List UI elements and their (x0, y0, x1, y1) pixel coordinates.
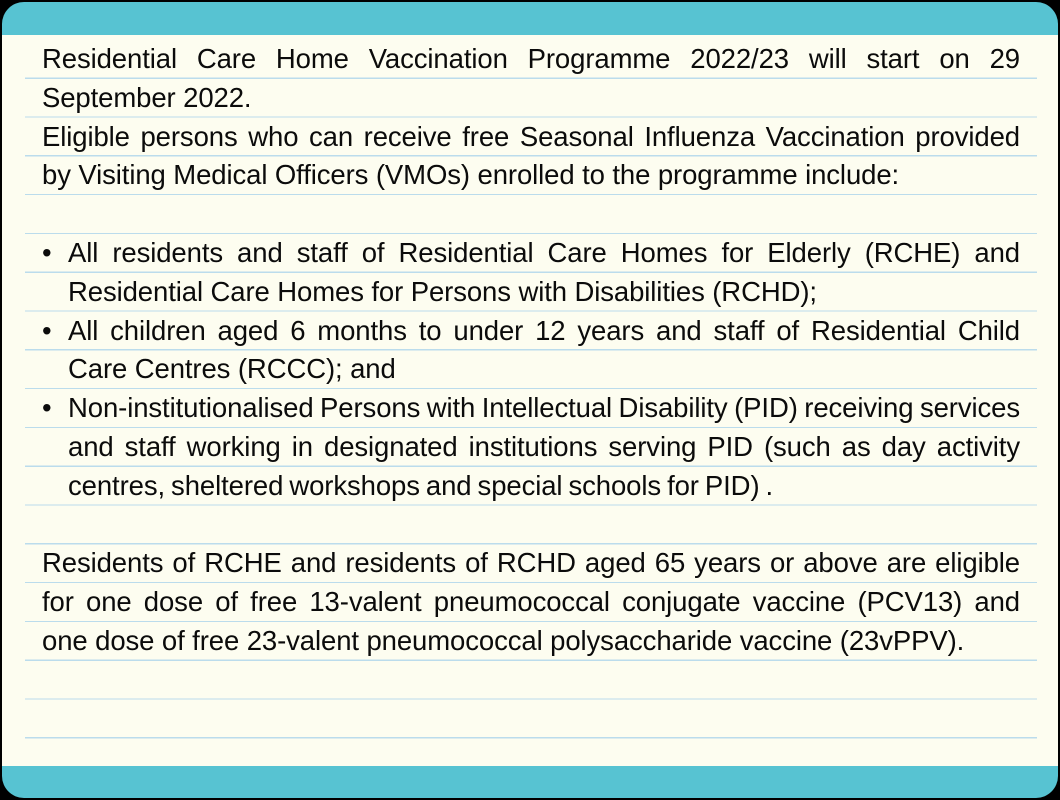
list-item-text: All children aged 6 months to under 12 y… (68, 315, 1020, 385)
bullet-icon: • (42, 234, 52, 273)
list-item: • All residents and staff of Residential… (42, 234, 1020, 312)
spacer-line-2 (42, 506, 1020, 545)
slide-card: Residential Care Home Vaccination Progra… (2, 2, 1058, 798)
intro-paragraph-2: Eligible persons who can receive free Se… (42, 118, 1020, 196)
bullet-icon: • (42, 389, 52, 428)
closing-paragraph: Residents of RCHE and residents of RCHD … (42, 544, 1020, 660)
intro-paragraph-1: Residential Care Home Vaccination Progra… (42, 40, 1020, 118)
spacer-line-1 (42, 195, 1020, 234)
list-item: • All children aged 6 months to under 12… (42, 312, 1020, 390)
bullet-icon: • (42, 312, 52, 351)
notepad-sheet: Residential Care Home Vaccination Progra… (2, 35, 1058, 766)
list-item: • Non-institutionalised Persons with Int… (42, 389, 1020, 505)
eligibility-bullet-list: • All residents and staff of Residential… (42, 234, 1020, 506)
list-item-text: All residents and staff of Residential C… (68, 237, 1020, 307)
notice-body: Residential Care Home Vaccination Progra… (42, 40, 1020, 760)
list-item-text: Non-institutionalised Persons with Intel… (68, 392, 1020, 501)
